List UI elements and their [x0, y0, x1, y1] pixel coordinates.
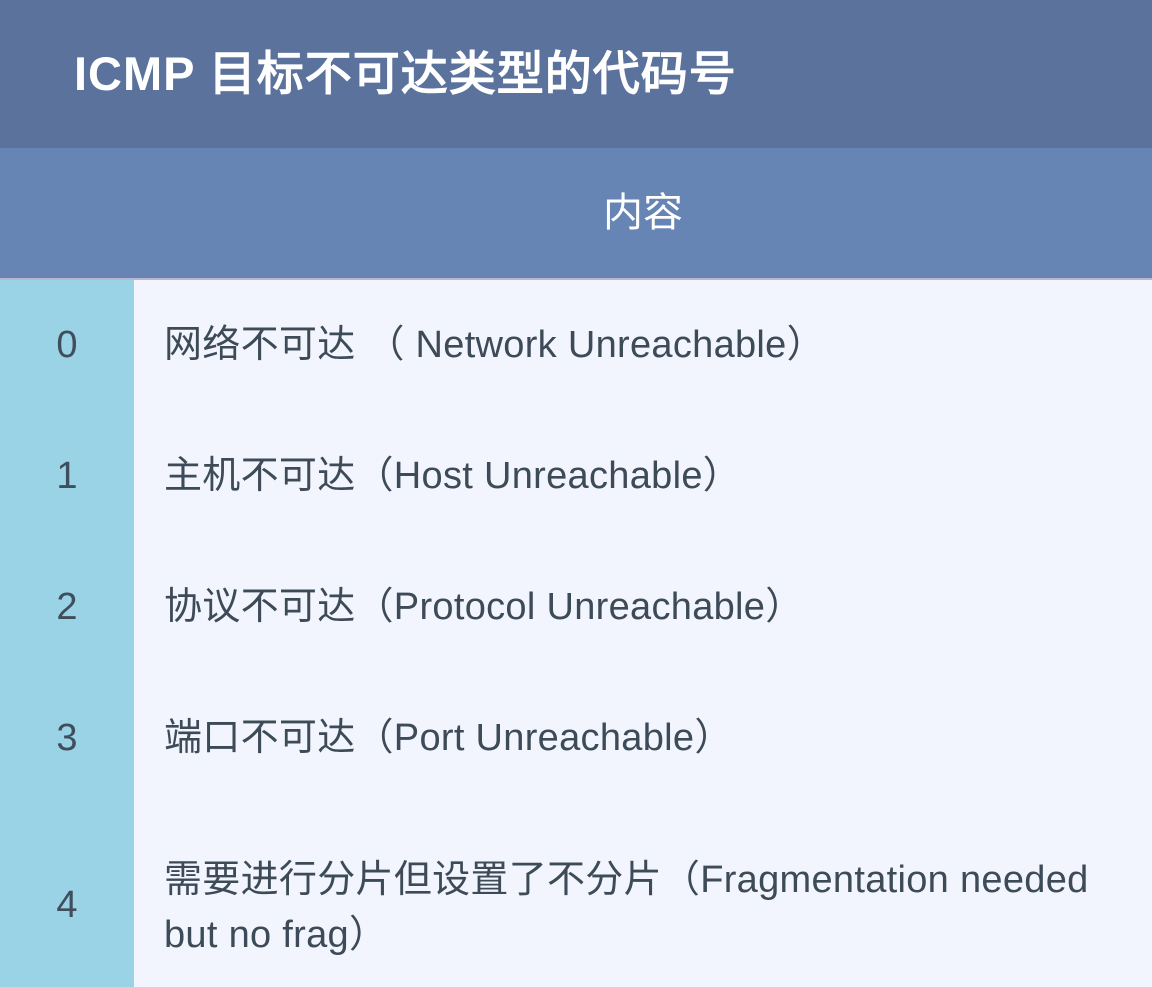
icmp-destination-unreachable-table: 内容 0 网络不可达 （ Network Unreachable） 1 主机不可…	[0, 148, 1152, 987]
table-row: 0 网络不可达 （ Network Unreachable）	[0, 280, 1152, 411]
table-row: 3 端口不可达（Port Unreachable）	[0, 673, 1152, 804]
table-header-row: 内容	[0, 148, 1152, 278]
cell-code: 0	[0, 280, 134, 411]
page-title: ICMP 目标不可达类型的代码号	[74, 48, 737, 100]
table-row: 2 协议不可达（Protocol Unreachable）	[0, 542, 1152, 673]
cell-code: 4	[0, 804, 134, 987]
page-banner: ICMP 目标不可达类型的代码号	[0, 0, 1152, 148]
cell-code: 1	[0, 411, 134, 542]
cell-code: 2	[0, 542, 134, 673]
table-row: 1 主机不可达（Host Unreachable）	[0, 411, 1152, 542]
cell-content: 协议不可达（Protocol Unreachable）	[134, 542, 1152, 673]
code-column-tail	[0, 981, 134, 987]
cell-code: 3	[0, 673, 134, 804]
table-row: 4 需要进行分片但设置了不分片（Fragmentation needed but…	[0, 804, 1152, 987]
column-header-content: 内容	[134, 148, 1152, 278]
cell-content: 网络不可达 （ Network Unreachable）	[134, 280, 1152, 411]
column-header-content-label: 内容	[134, 189, 1152, 237]
cell-content: 主机不可达（Host Unreachable）	[134, 411, 1152, 542]
column-header-code	[0, 148, 134, 278]
table-header: 内容	[0, 148, 1152, 280]
cell-content: 需要进行分片但设置了不分片（Fragmentation needed but n…	[134, 804, 1152, 987]
table-body: 0 网络不可达 （ Network Unreachable） 1 主机不可达（H…	[0, 280, 1152, 987]
cell-content: 端口不可达（Port Unreachable）	[134, 673, 1152, 804]
icmp-code-table-page: ICMP 目标不可达类型的代码号 内容 0 网络不可达	[0, 0, 1152, 987]
